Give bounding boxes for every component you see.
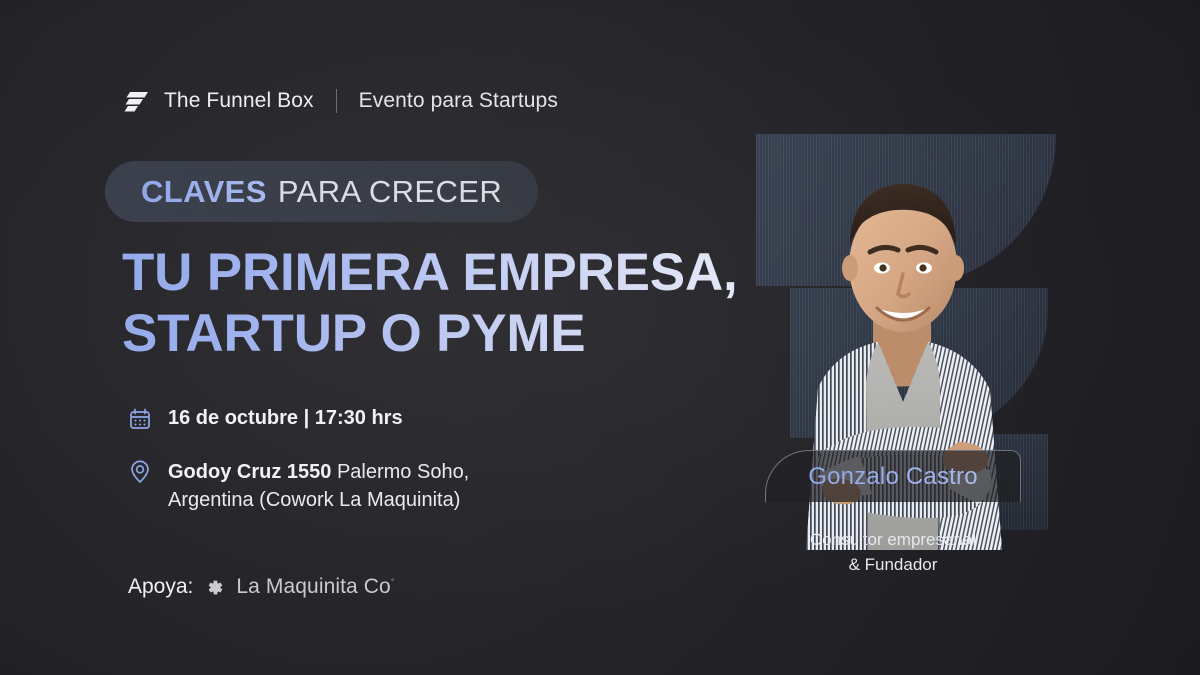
speaker-role: Consultor empresarial & Fundador (765, 528, 1021, 578)
page-title: TU PRIMERA EMPRESA, STARTUP O PYME (122, 242, 738, 365)
event-location-text: Godoy Cruz 1550 Palermo Soho, Argentina … (168, 458, 469, 515)
speaker-name-badge: Gonzalo Castro (765, 450, 1021, 502)
event-location-area: Palermo Soho, (331, 461, 469, 483)
event-location-venue: Argentina (Cowork La Maquinita) (168, 489, 460, 511)
brand-row: The Funnel Box Evento para Startups (124, 88, 558, 114)
brand-separator (336, 89, 337, 113)
funnel-f-logo-icon (124, 88, 150, 114)
event-date-row: 16 de octubre | 17:30 hrs (128, 404, 403, 432)
eyebrow-highlight: CLAVES (141, 174, 267, 210)
event-location-row: Godoy Cruz 1550 Palermo Soho, Argentina … (128, 458, 469, 515)
event-poster: The Funnel Box Evento para Startups CLAV… (0, 0, 1200, 675)
gear-icon (204, 577, 225, 598)
brand-name: The Funnel Box (164, 89, 314, 113)
sponsor-name: La Maquinita Co° (236, 575, 394, 599)
event-date-text: 16 de octubre | 17:30 hrs (168, 404, 403, 432)
eyebrow-badge: CLAVES PARA CRECER (105, 161, 538, 222)
sponsor-name-text: La Maquinita Co (236, 575, 390, 598)
sponsor-row: Apoya: La Maquinita Co° (128, 575, 395, 599)
speaker-name: Gonzalo Castro (808, 463, 978, 491)
sponsor-mark: ° (391, 577, 395, 587)
event-location-street: Godoy Cruz 1550 (168, 461, 331, 483)
event-date-value: 16 de octubre | 17:30 hrs (168, 407, 403, 429)
map-pin-icon (128, 459, 152, 485)
calendar-icon (128, 406, 152, 432)
brand-tagline: Evento para Startups (359, 89, 558, 113)
sponsor-label: Apoya: (128, 575, 193, 599)
eyebrow-rest: PARA CRECER (278, 174, 502, 210)
